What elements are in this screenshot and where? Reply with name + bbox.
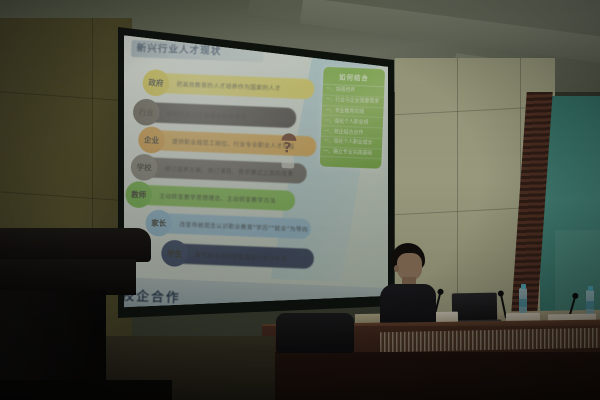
question-mark-glyph: ? (283, 142, 292, 156)
podium (0, 228, 158, 400)
slide-row-text-4: 主动转变教学思想理念、主动转变教学方法 (138, 185, 296, 211)
slide-row-text-1: 制定行业人才标准及职业规范 (145, 102, 296, 128)
slide-row-text-6: 要学会主动规划管理自己学习专业 (174, 243, 315, 269)
wall-seam (0, 91, 132, 101)
bottle-label (586, 301, 594, 309)
bottle-cap (588, 286, 593, 291)
bottle-cap (521, 284, 526, 289)
slide-row-1: 制定行业人才标准及职业规范行业 (133, 102, 134, 122)
water-bottle-right (586, 290, 594, 316)
projection-screen: 新兴行业人才现状 把高效教育的人才培养作为国家的人才政府制定行业人才标准及职业规… (124, 24, 388, 310)
figure-body (281, 156, 294, 168)
wall-seam (0, 191, 132, 201)
question-mark-person-icon: ? (277, 133, 300, 170)
bottle-label (519, 299, 527, 307)
slide-row-0: 把高效教育的人才培养作为国家的人才政府 (142, 72, 143, 92)
podium-shadow (0, 380, 172, 400)
water-bottle-center (519, 288, 527, 314)
desk-lower-panel (262, 352, 600, 400)
office-chair (276, 313, 354, 353)
presenter-ear (394, 265, 399, 272)
podium-top (0, 228, 151, 262)
seated-male-presenter (378, 243, 438, 328)
slide-row-text-0: 把高效教育的人才培养作为国家的人才 (155, 73, 315, 100)
green-callout-item-6: 一、确立专业实践基础 (320, 147, 382, 160)
slide-row-6: 要学会主动规划管理自己学习专业学生 (161, 243, 162, 263)
slide-green-callout: 如何结合 一、加强培养一、行业与企业需要需求一、专业教育实践一、强化个人职业规一… (320, 67, 385, 169)
green-callout-list: 一、加强培养一、行业与企业需要需求一、专业教育实践一、强化个人职业规一、校企结合… (320, 85, 384, 160)
presentation-slide: 新兴行业人才现状 把高效教育的人才培养作为国家的人才政府制定行业人才标准及职业规… (124, 24, 388, 310)
laptop[interactable] (452, 293, 497, 322)
slide-row-2: 提供职业规范工岗位、行业专业职业人才队伍企业 (138, 129, 139, 149)
lecture-hall-photo: 新兴行业人才现状 把高效教育的人才培养作为国家的人才政府制定行业人才标准及职业规… (0, 0, 600, 400)
slide-row-4: 主动转变教学思想理念、主动转变教学方法教师 (125, 184, 126, 204)
slide-row-3: 修订培养方案、修订课程、教学模式之类的改革学校 (130, 157, 131, 177)
